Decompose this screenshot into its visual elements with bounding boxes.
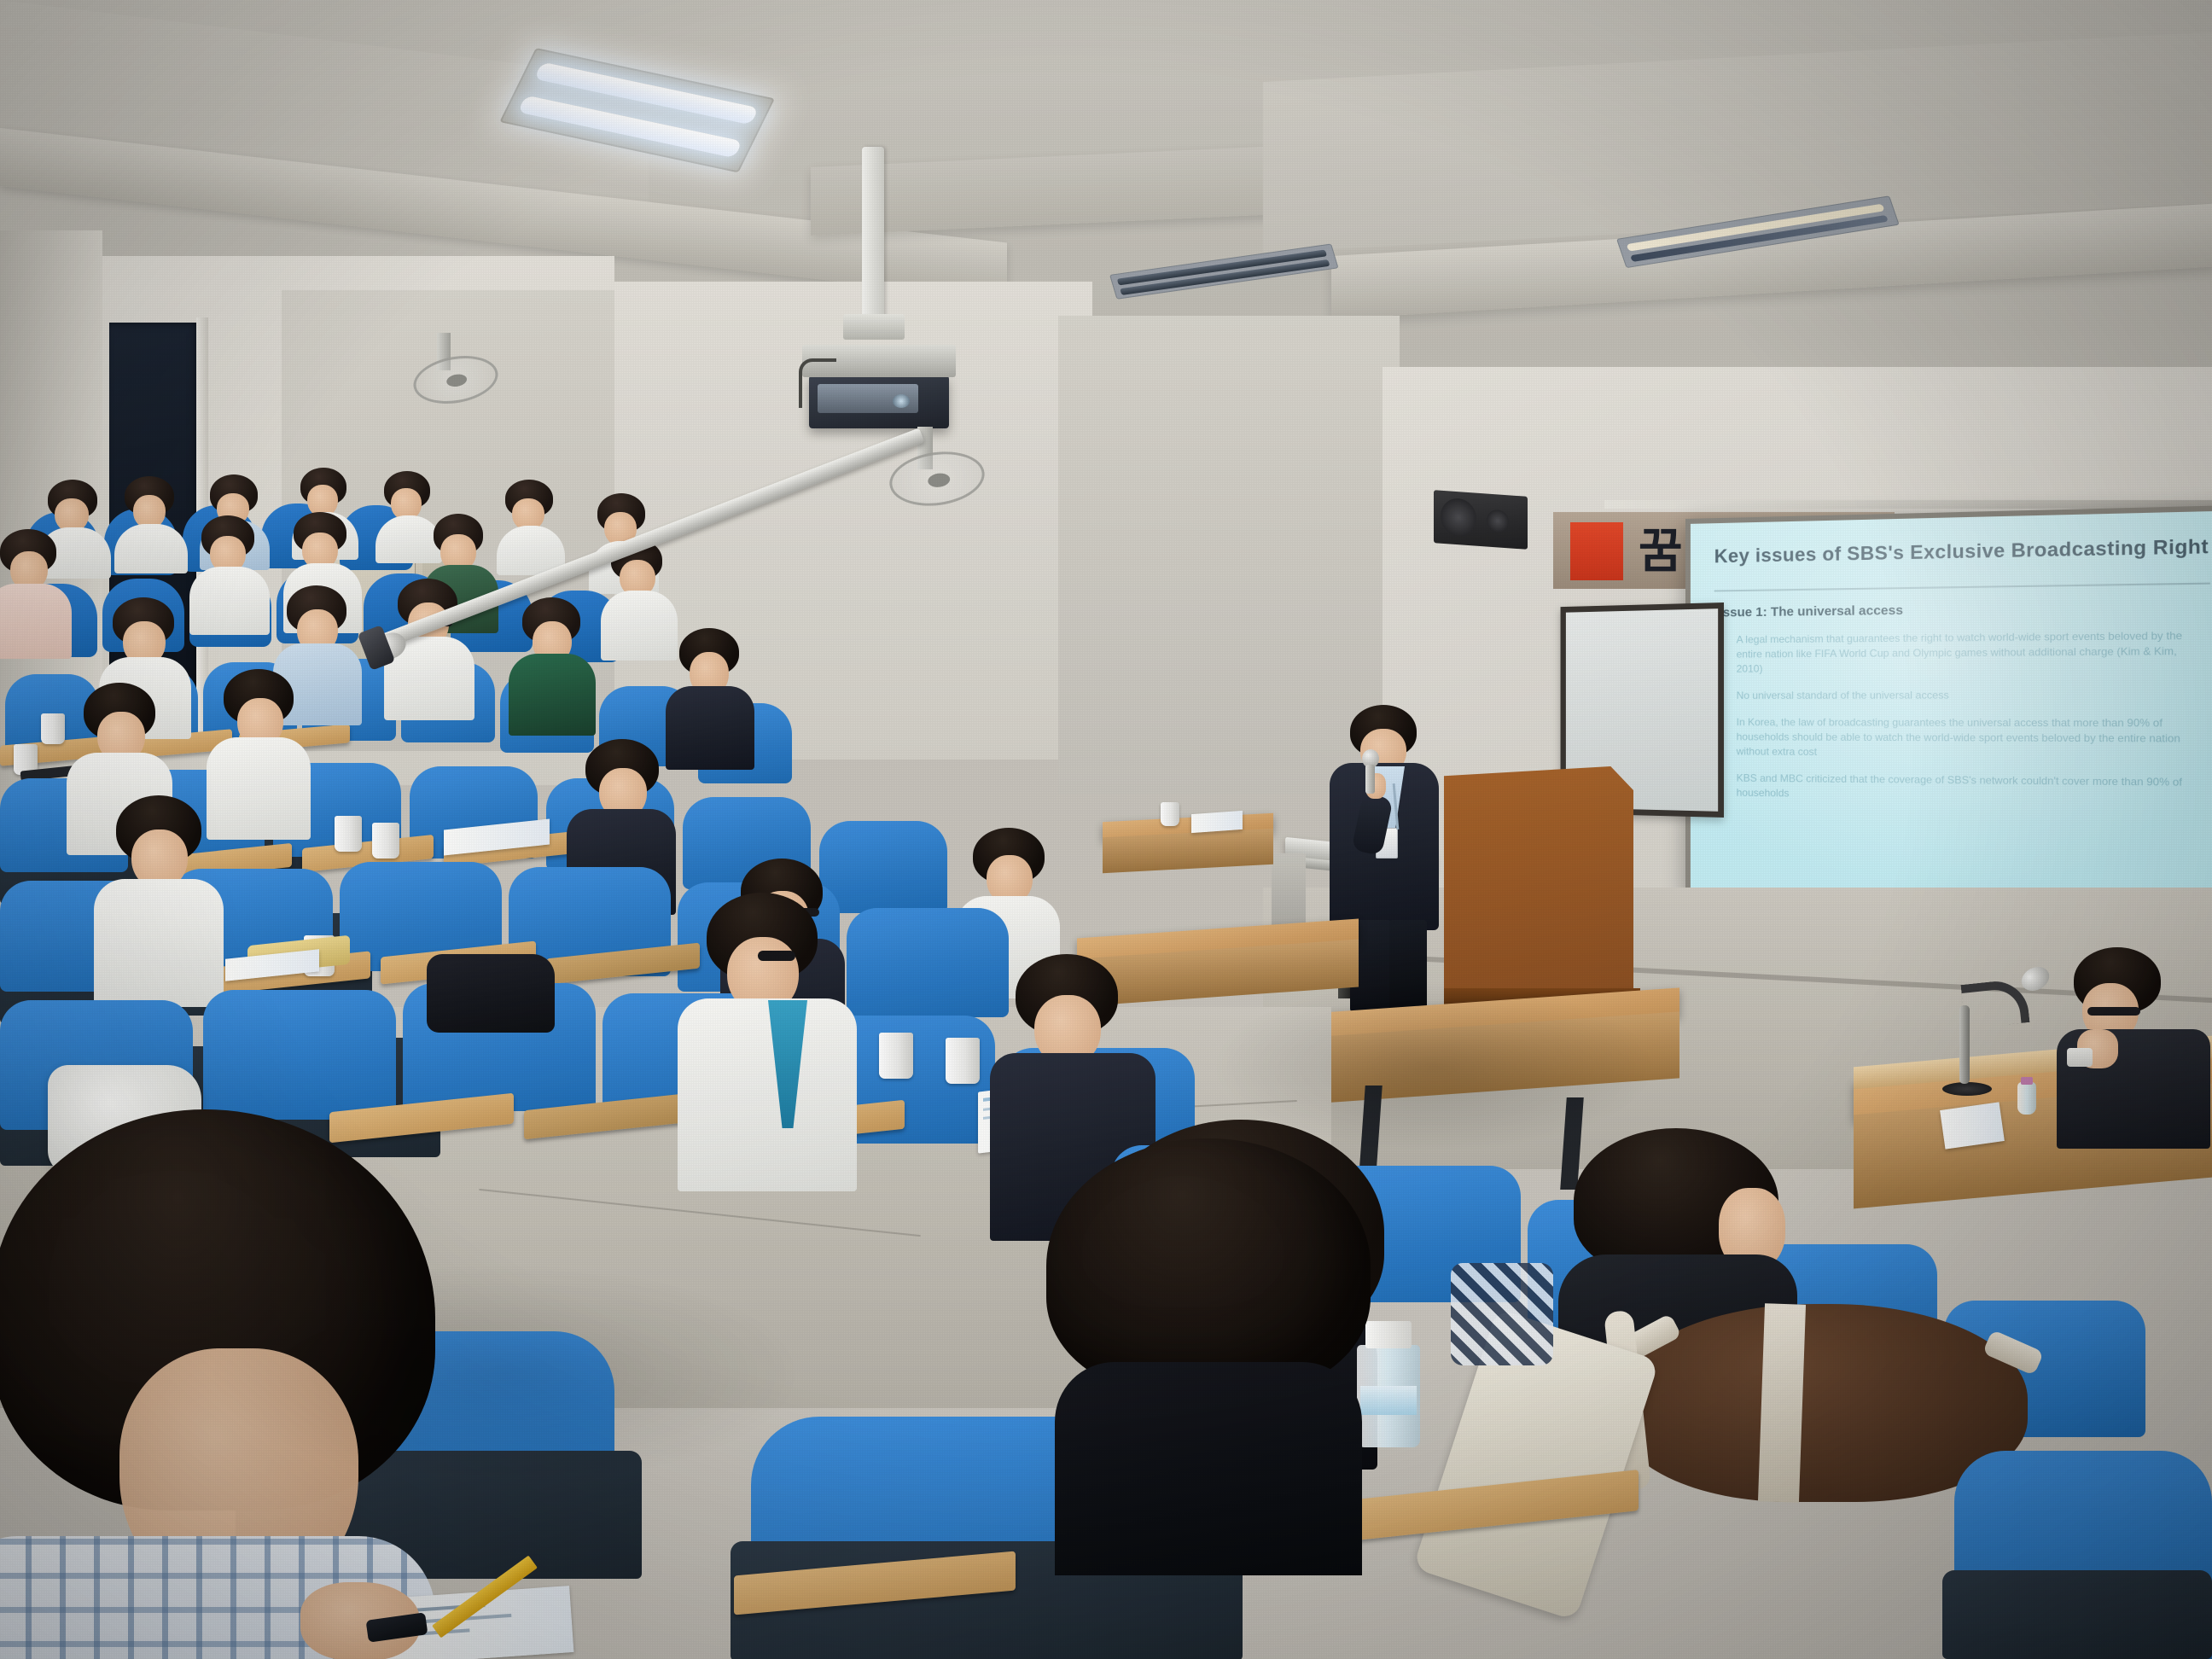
paper-front-desk (1191, 811, 1243, 833)
cup-front-desk (1161, 802, 1179, 826)
projector-mount-plate (843, 314, 905, 340)
checkered-cloth (1451, 1263, 1553, 1365)
cup-d1 (335, 816, 362, 852)
bottle-label (1360, 1386, 1417, 1415)
moderator-bottle-cap (2021, 1077, 2033, 1085)
shirt-cuff (2067, 1048, 2093, 1067)
projector-drop-pole (862, 147, 884, 326)
projection-screen: Key issues of SBS's Exclusive Broadcasti… (1691, 510, 2212, 902)
moderator-water-bottle (2017, 1082, 2036, 1115)
banner-red-block (1570, 522, 1623, 580)
foreground-seat-right-back (1942, 1570, 2212, 1659)
eyeglasses (2087, 1007, 2140, 1016)
eyeglasses-f (758, 951, 795, 961)
cup-d2 (372, 823, 399, 859)
folded-program (1940, 1102, 2005, 1149)
mic-base (1942, 1082, 1992, 1096)
wooden-podium (1444, 766, 1633, 1005)
cup-c1 (41, 713, 65, 744)
cup-f2 (946, 1038, 980, 1084)
bottle-cap (1365, 1321, 1412, 1348)
front-row-desk-3-front (1103, 829, 1273, 873)
cup-f1 (879, 1033, 913, 1079)
moderator-panelist (2048, 947, 2212, 1144)
bag-strap-vertical (1758, 1303, 1806, 1503)
projector-cable (799, 358, 836, 408)
wall-speaker (1434, 490, 1528, 550)
black-bag-on-seat (427, 954, 555, 1033)
projection-screen-frame: Key issues of SBS's Exclusive Broadcasti… (1685, 505, 2212, 909)
lecture-hall-photograph: 꿈 Key issues of SBS's Exclusive Broadcas… (0, 0, 2212, 1659)
water-bottle (1357, 1345, 1420, 1447)
